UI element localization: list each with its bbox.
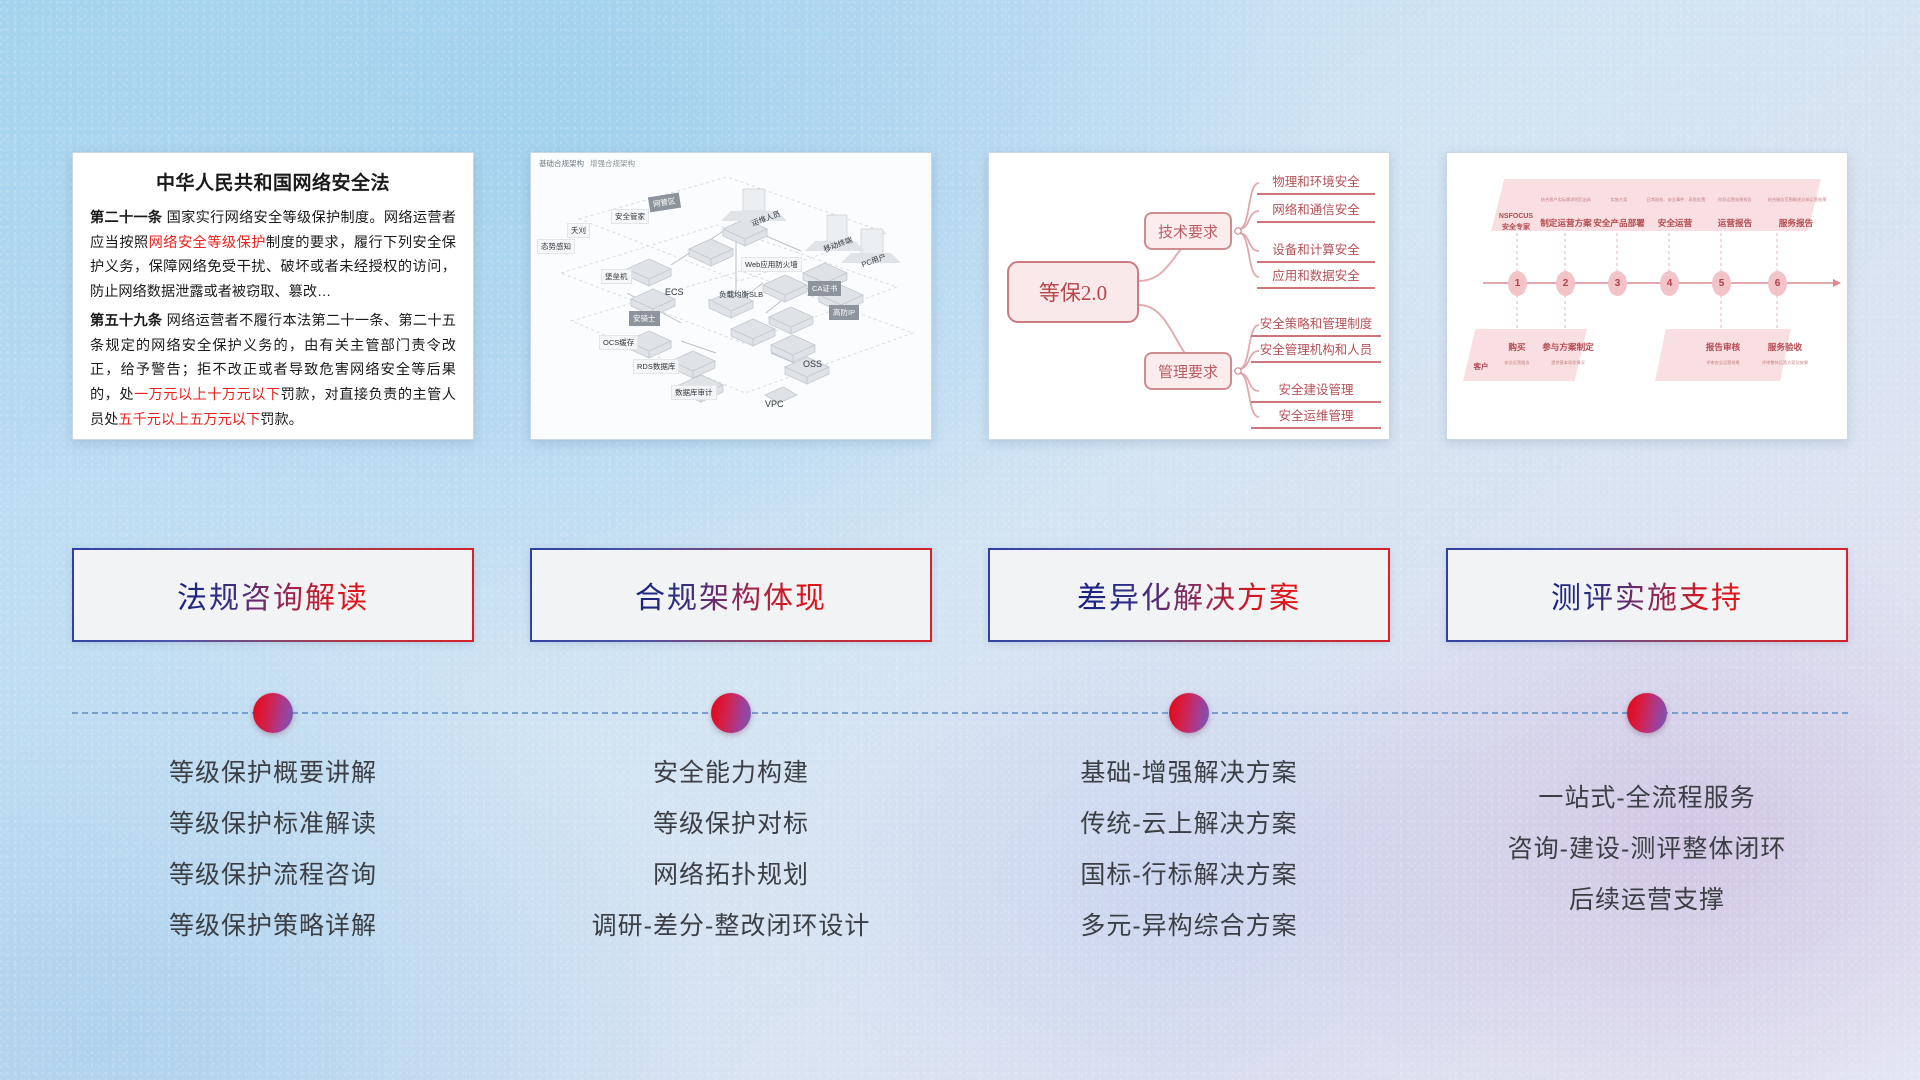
mindmap-leaf-app-data: 应用和数据安全 xyxy=(1257,265,1375,289)
mindmap-leaf-physical-env: 物理和环境安全 xyxy=(1257,171,1375,195)
mindmap-root: 等保2.0 xyxy=(1007,261,1139,323)
nsfocus-expert-label-1: NSFOCUS xyxy=(1495,213,1537,220)
nsfocus-step-number-3: 3 xyxy=(1608,271,1627,296)
nsfocus-top-sub-4: 阶段运营效果报告 xyxy=(1705,197,1765,203)
mindmap-leaf-construction-mgmt: 安全建设管理 xyxy=(1251,379,1381,403)
nsfocus-expert-label-2: 安全专家 xyxy=(1495,222,1537,232)
detail-list-1: 等级保护概要讲解 等级保护标准解读 等级保护流程咨询 等级保护策略详解 xyxy=(72,748,474,978)
detail-list-3: 基础-增强解决方案 传统-云上解决方案 国标-行标解决方案 多元-异构综合方案 xyxy=(988,748,1390,978)
law-article-21-highlight: 网络安全等级保护 xyxy=(149,235,266,251)
list-item: 网络拓扑规划 xyxy=(530,850,932,901)
section-titles-row: 法规咨询解读 合规架构体现 差异化解决方案 测评实施支持 xyxy=(72,548,1848,646)
nsfocus-bottom-main-1: 购买 xyxy=(1495,341,1539,353)
list-item: 后续运营支撑 xyxy=(1446,875,1848,926)
nsfocus-bottom-sub-3: 评审安全运营效果 xyxy=(1693,360,1753,366)
nsfocus-bottom-sub-4: 评审整体运营方案及效果 xyxy=(1751,360,1819,366)
timeline-dashed-line xyxy=(72,712,1848,714)
list-item: 一站式-全流程服务 xyxy=(1446,773,1848,824)
list-item: 等级保护流程咨询 xyxy=(72,850,474,901)
card-nsfocus-process: NSFOCUS 安全专家 客户 结合客户实际需求明后出具 制定运营方案 实施方案… xyxy=(1446,152,1848,440)
nsfocus-step-number-2: 2 xyxy=(1556,271,1575,296)
nsfocus-bottom-sub-2: 提供基本现状情况 xyxy=(1539,360,1597,366)
card-dengbao-mindmap: 等保2.0 技术要求 物理和环境安全 网络和通信安全 设备和计算安全 应用和数据… xyxy=(988,152,1390,440)
law-article-59-text-c: 罚款。 xyxy=(260,412,303,428)
arch-node-waf-lite: 夭刈 xyxy=(567,223,590,238)
nsfocus-top-sub-1: 结合客户实际需求明后出具 xyxy=(1535,197,1597,203)
arch-node-anti-ddos-ip: 高防IP xyxy=(829,305,859,320)
mindmap-leaf-org-personnel: 安全管理机构和人员 xyxy=(1251,339,1381,363)
list-item: 国标-行标解决方案 xyxy=(988,850,1390,901)
arch-node-rds-db: RDS数据库 xyxy=(633,359,679,374)
arch-node-situational-awareness: 态势感知 xyxy=(537,239,575,254)
title-label-evaluation-support: 测评实施支持 xyxy=(1551,573,1743,617)
nsfocus-top-main-2: 安全产品部署 xyxy=(1593,217,1645,229)
nsfocus-top-sub-5: 结合服务范围概述总体运营效果 xyxy=(1761,197,1833,203)
list-item: 等级保护策略详解 xyxy=(72,901,474,952)
detail-lists-row: 等级保护概要讲解 等级保护标准解读 等级保护流程咨询 等级保护策略详解 安全能力… xyxy=(72,748,1848,978)
nsfocus-bottom-band-right xyxy=(1655,329,1791,381)
nsfocus-top-sub-2: 实施方案 xyxy=(1593,197,1645,203)
nsfocus-top-sub-3: 日常巡检、安全事件、高危处置 xyxy=(1641,197,1711,203)
list-item: 安全能力构建 xyxy=(530,748,932,799)
list-item: 咨询-建设-测评整体闭环 xyxy=(1446,824,1848,875)
law-article-59-fine-2: 五千元以上五万元以下 xyxy=(118,412,260,428)
list-item: 多元-异构综合方案 xyxy=(988,901,1390,952)
nsfocus-step-number-5: 5 xyxy=(1712,271,1731,296)
title-label-compliance-architecture: 合规架构体现 xyxy=(635,573,827,617)
law-title: 中华人民共和国网络安全法 xyxy=(90,168,456,195)
nsfocus-bottom-main-2: 参与方案制定 xyxy=(1537,341,1599,353)
list-item: 基础-增强解决方案 xyxy=(988,748,1390,799)
arch-node-ocs-cache: OCS缓存 xyxy=(599,335,638,350)
mindmap-leaf-ops-mgmt: 安全运维管理 xyxy=(1251,405,1381,429)
timeline-dot-1[interactable] xyxy=(253,693,293,733)
nsfocus-bottom-main-4: 服务验收 xyxy=(1757,341,1813,353)
arch-node-slb: 负载均衡SLB xyxy=(715,287,767,302)
law-article-21-label: 第二十一条 xyxy=(90,210,162,226)
timeline-dot-3[interactable] xyxy=(1169,693,1209,733)
law-article-59-label: 第五十九条 xyxy=(90,313,162,329)
law-article-59: 第五十九条 网络运营者不履行本法第二十一条、第二十五条规定的网络安全保护义务的，… xyxy=(90,309,456,433)
title-box-regulation-consulting[interactable]: 法规咨询解读 xyxy=(72,548,474,642)
nsfocus-step-number-1: 1 xyxy=(1508,271,1527,296)
arch-node-ecs: ECS xyxy=(661,285,688,299)
list-item: 调研-差分-整改闭环设计 xyxy=(530,901,932,952)
nsfocus-step-number-6: 6 xyxy=(1768,271,1787,296)
arch-node-vpc: VPC xyxy=(761,397,788,411)
list-item: 等级保护标准解读 xyxy=(72,799,474,850)
mindmap-leaf-network-comm: 网络和通信安全 xyxy=(1257,199,1375,223)
card-compliance-architecture: 基础合规架构 增强合规架构 xyxy=(530,152,932,440)
title-label-differentiated-solution: 差异化解决方案 xyxy=(1077,573,1301,617)
nsfocus-top-main-3: 安全运营 xyxy=(1649,217,1701,229)
title-label-regulation-consulting: 法规咨询解读 xyxy=(177,573,369,617)
mindmap-leaf-policy-system: 安全策略和管理制度 xyxy=(1251,313,1381,337)
mindmap-branch-technical: 技术要求 xyxy=(1144,212,1232,250)
detail-list-4: 一站式-全流程服务 咨询-建设-测评整体闭环 后续运营支撑 xyxy=(1446,748,1848,978)
arch-node-db-audit: 数据库审计 xyxy=(671,385,717,400)
title-box-compliance-architecture[interactable]: 合规架构体现 xyxy=(530,548,932,642)
detail-list-2: 安全能力构建 等级保护对标 网络拓扑规划 调研-差分-整改闭环设计 xyxy=(530,748,932,978)
arch-node-bastion-host: 堡垒机 xyxy=(601,269,632,284)
list-item: 传统-云上解决方案 xyxy=(988,799,1390,850)
nsfocus-bottom-main-3: 报告审核 xyxy=(1695,341,1751,353)
title-box-differentiated-solution[interactable]: 差异化解决方案 xyxy=(988,548,1390,642)
arch-node-security-steward: 安全管家 xyxy=(611,209,649,224)
law-article-59-fine-1: 一万元以上十万元以下 xyxy=(134,387,281,403)
law-article-21: 第二十一条 国家实行网络安全等级保护制度。网络运营者应当按照网络安全等级保护制度… xyxy=(90,206,456,305)
arch-node-oss: OSS xyxy=(799,357,826,371)
nsfocus-top-main-4: 运营报告 xyxy=(1705,217,1765,229)
illustration-cards-row: 中华人民共和国网络安全法 第二十一条 国家实行网络安全等级保护制度。网络运营者应… xyxy=(72,152,1848,452)
nsfocus-step-number-4: 4 xyxy=(1660,271,1679,296)
arch-node-anqishi: 安骑士 xyxy=(629,311,660,326)
list-item: 等级保护概要讲解 xyxy=(72,748,474,799)
list-item: 等级保护对标 xyxy=(530,799,932,850)
nsfocus-top-main-1: 制定运营方案 xyxy=(1535,217,1597,229)
nsfocus-bottom-sub-1: 安全运营服务 xyxy=(1491,360,1543,366)
arch-node-ca-cert: CA证书 xyxy=(808,281,841,296)
arch-node-waf: Web应用防火墙 xyxy=(741,257,802,272)
nsfocus-bottom-band-left xyxy=(1463,329,1587,381)
nsfocus-top-main-5: 服务报告 xyxy=(1765,217,1827,229)
mindmap-leaf-device-compute: 设备和计算安全 xyxy=(1257,239,1375,263)
card-cybersecurity-law: 中华人民共和国网络安全法 第二十一条 国家实行网络安全等级保护制度。网络运营者应… xyxy=(72,152,474,440)
timeline-dot-2[interactable] xyxy=(711,693,751,733)
mindmap-branch-management: 管理要求 xyxy=(1144,352,1232,390)
timeline-track xyxy=(72,693,1848,733)
title-box-evaluation-support[interactable]: 测评实施支持 xyxy=(1446,548,1848,642)
timeline-dot-4[interactable] xyxy=(1627,693,1667,733)
